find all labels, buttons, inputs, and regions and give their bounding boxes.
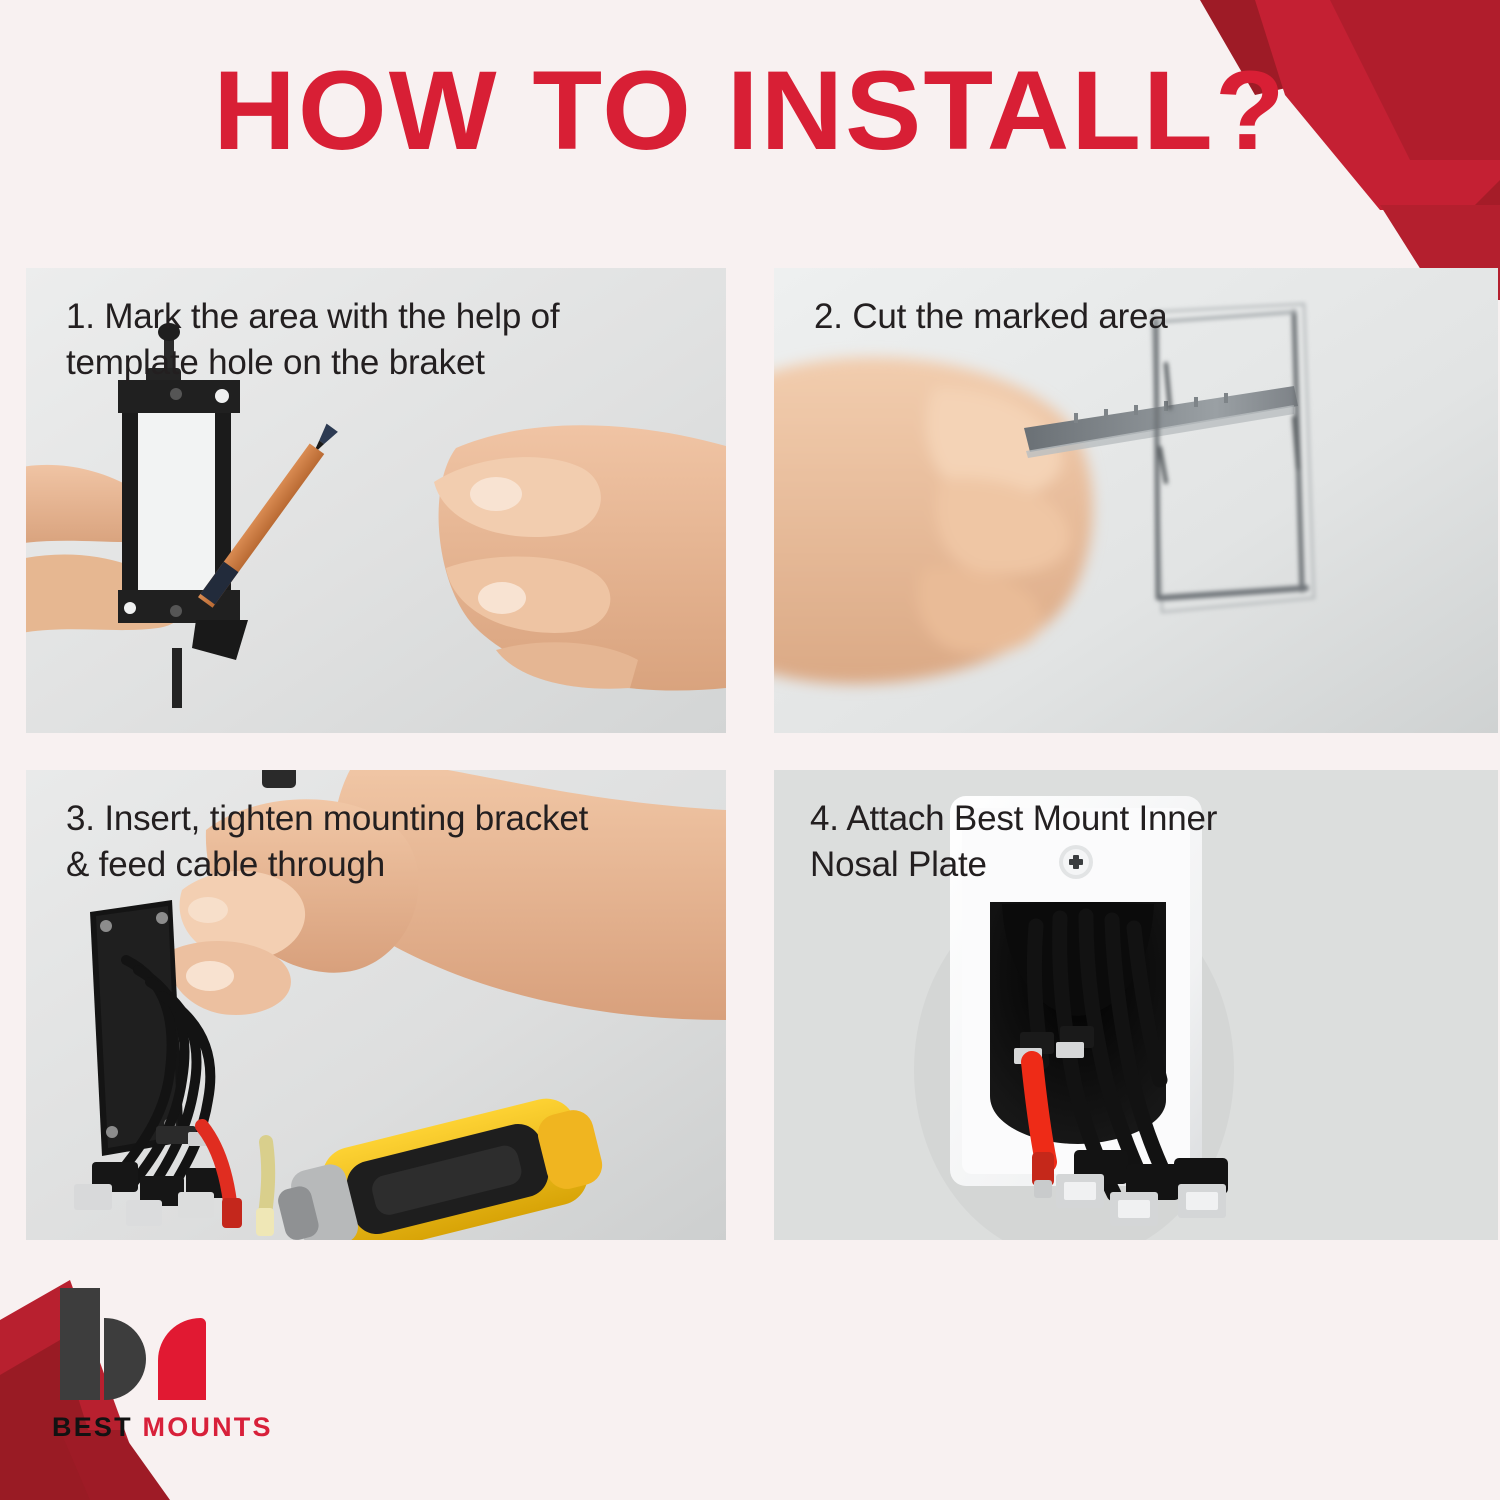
logo-bowl-shape [104,1318,146,1400]
step-panel-2: 2. Cut the marked area [774,268,1498,733]
brand-wordmark: BEST MOUNTS [52,1412,312,1443]
brand-word-best: BEST [52,1412,133,1442]
logo-bar-shape [60,1288,100,1400]
brand-logo: BEST MOUNTS [52,1288,312,1448]
step-4-caption: 4. Attach Best Mount Inner Nosal Plate [810,796,1474,887]
step-panel-4: 4. Attach Best Mount Inner Nosal Plate [774,770,1498,1240]
step-panel-3: 3. Insert, tighten mounting bracket & fe… [26,770,726,1240]
brand-word-mounts: MOUNTS [143,1412,273,1442]
steps-grid: 1. Mark the area with the help of templa… [26,268,1474,1240]
best-mounts-monogram-icon [52,1288,252,1400]
step-2-caption: 2. Cut the marked area [814,294,1474,340]
logo-red-shape [158,1318,206,1400]
step-3-caption: 3. Insert, tighten mounting bracket & fe… [66,796,702,887]
step-1-caption: 1. Mark the area with the help of templa… [66,294,702,385]
page-title: HOW TO INSTALL? [0,52,1500,170]
step-panel-1: 1. Mark the area with the help of templa… [26,268,726,733]
